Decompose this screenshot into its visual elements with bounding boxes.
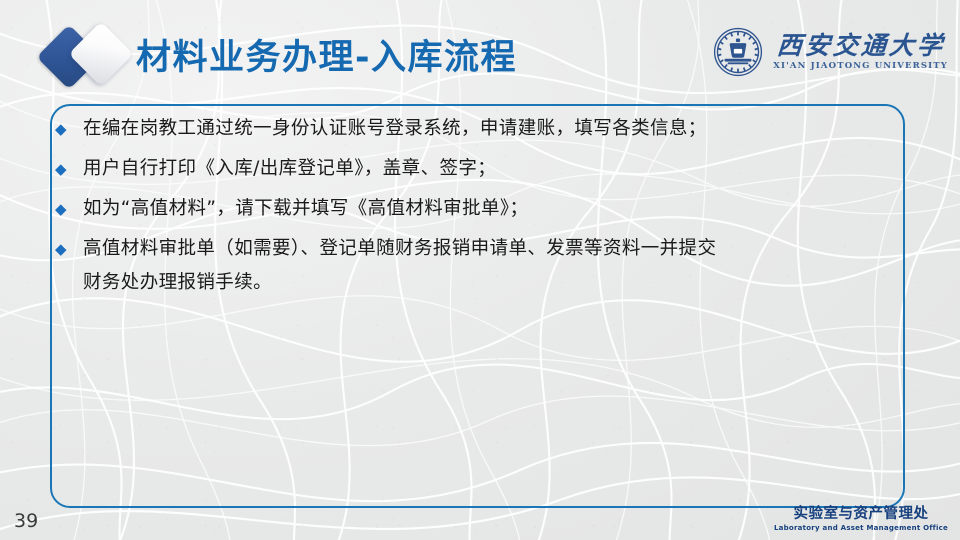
list-item: ◆ 高值材料审批单（如需要）、登记单随财务报销申请单、发票等资料一并提交 财务处… (52, 232, 912, 300)
diamond-bullet-icon: ◆ (52, 112, 83, 146)
diamond-bullet-icon: ◆ (52, 192, 83, 226)
slide: 材料业务办理-入库流程 (0, 0, 960, 540)
footer-office-cn: 实验室与资产管理处 (774, 505, 948, 523)
list-item: ◆ 用户自行打印《入库/出库登记单》，盖章、签字； (52, 152, 912, 186)
footer-office-en: Laboratory and Asset Management Office (774, 523, 948, 534)
list-item-text: 用户自行打印《入库/出库登记单》，盖章、签字； (83, 152, 912, 186)
list-item-text: 在编在岗教工通过统一身份认证账号登录系统，申请建账，填写各类信息； (83, 112, 912, 146)
footer-brand: 实验室与资产管理处 Laboratory and Asset Managemen… (774, 505, 948, 534)
title-diamond-mark (44, 27, 148, 89)
university-name-cn: 西安交通大学 (776, 33, 946, 58)
university-logo: 西安交通大学 XI'AN JIAOTONG UNIVERSITY (712, 26, 948, 78)
list-item: ◆ 在编在岗教工通过统一身份认证账号登录系统，申请建账，填写各类信息； (52, 112, 912, 146)
list-item: ◆ 如为“高值材料”，请下载并填写《高值材料审批单》； (52, 192, 912, 226)
xjtu-seal-icon (712, 26, 764, 78)
university-name-block: 西安交通大学 XI'AN JIAOTONG UNIVERSITY (773, 33, 948, 71)
list-item-text: 高值材料审批单（如需要）、登记单随财务报销申请单、发票等资料一并提交 财务处办理… (83, 232, 912, 300)
list-item-text-line-2: 财务处办理报销手续。 (83, 266, 912, 300)
list-item-text-line-1: 高值材料审批单（如需要）、登记单随财务报销申请单、发票等资料一并提交 (83, 232, 912, 266)
diamond-bullet-icon: ◆ (52, 232, 83, 266)
bullet-list: ◆ 在编在岗教工通过统一身份认证账号登录系统，申请建账，填写各类信息； ◆ 用户… (52, 112, 912, 306)
university-name-en: XI'AN JIAOTONG UNIVERSITY (773, 62, 948, 71)
slide-header: 材料业务办理-入库流程 (0, 0, 960, 96)
page-title: 材料业务办理-入库流程 (136, 34, 517, 82)
list-item-text: 如为“高值材料”，请下载并填写《高值材料审批单》； (83, 192, 912, 226)
page-number: 39 (14, 510, 38, 532)
diamond-bullet-icon: ◆ (52, 152, 83, 186)
